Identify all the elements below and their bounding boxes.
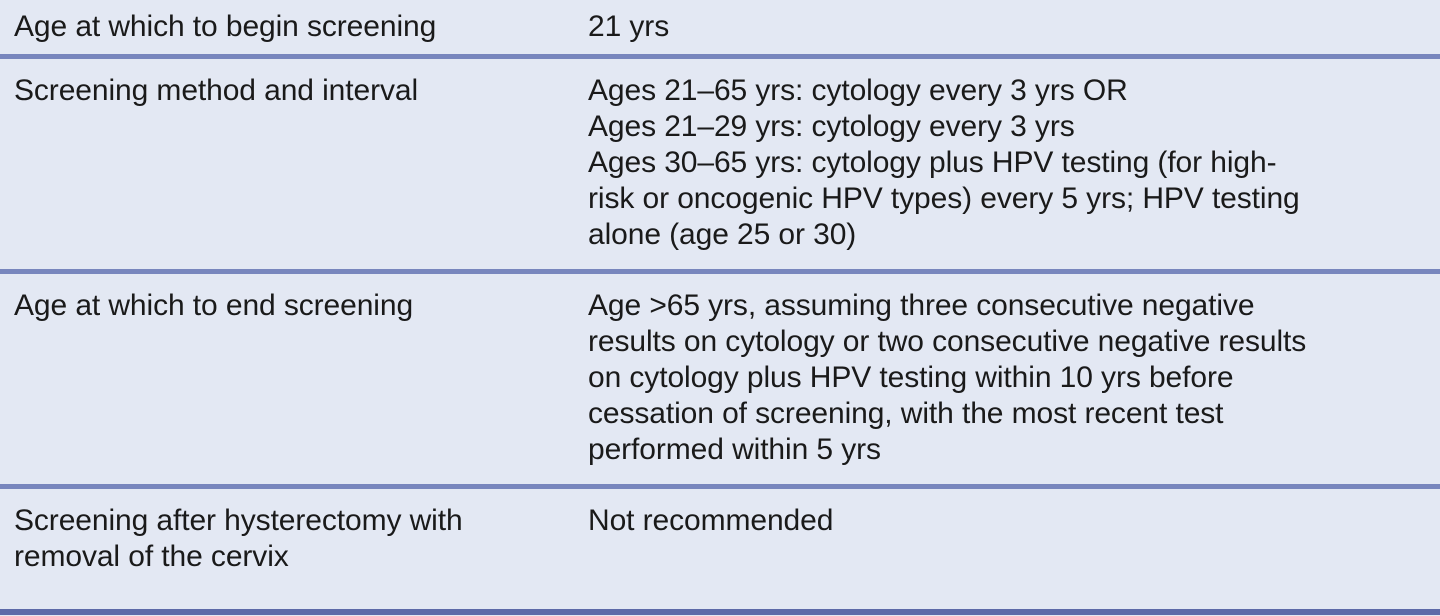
- row-value-line: alone (age 25 or 30): [588, 217, 1432, 253]
- guideline-table: Age at which to begin screening 21 yrs S…: [0, 0, 1440, 616]
- row-label-cell: Screening method and interval: [0, 59, 588, 125]
- row-value-line: Ages 21–65 yrs: cytology every 3 yrs OR: [588, 73, 1432, 109]
- table-bottom-rule: [0, 609, 1440, 615]
- row-value-line: on cytology plus HPV testing within 10 y…: [588, 360, 1432, 396]
- table-row: Screening method and interval Ages 21–65…: [0, 54, 1440, 269]
- table-row: Age at which to end screening Age >65 yr…: [0, 269, 1440, 484]
- row-value-line: risk or oncogenic HPV types) every 5 yrs…: [588, 181, 1432, 217]
- row-label-line: Age at which to begin screening: [14, 9, 574, 45]
- row-value-line: results on cytology or two consecutive n…: [588, 324, 1432, 360]
- row-value-line: Age >65 yrs, assuming three consecutive …: [588, 288, 1432, 324]
- row-value-line: Ages 21–29 yrs: cytology every 3 yrs: [588, 109, 1432, 145]
- row-value-cell: Age >65 yrs, assuming three consecutive …: [588, 274, 1440, 484]
- row-label-cell: Screening after hysterectomy with remova…: [0, 489, 588, 593]
- row-value-line: 21 yrs: [588, 9, 1432, 45]
- row-value-line: cessation of screening, with the most re…: [588, 396, 1432, 432]
- row-value-line: Ages 30–65 yrs: cytology plus HPV testin…: [588, 145, 1432, 181]
- row-value-cell: Not recommended: [588, 489, 1440, 557]
- row-label-cell: Age at which to begin screening: [0, 0, 588, 54]
- table-row: Screening after hysterectomy with remova…: [0, 484, 1440, 593]
- row-label-cell: Age at which to end screening: [0, 274, 588, 340]
- row-value-line: Not recommended: [588, 503, 1432, 539]
- row-label-line: Screening after hysterectomy with: [14, 503, 574, 539]
- row-value-cell: Ages 21–65 yrs: cytology every 3 yrs OR …: [588, 59, 1440, 269]
- row-label-line: Screening method and interval: [14, 73, 574, 109]
- row-label-line: Age at which to end screening: [14, 288, 574, 324]
- table-row: Age at which to begin screening 21 yrs: [0, 0, 1440, 54]
- row-label-line: removal of the cervix: [14, 539, 574, 575]
- row-value-line: performed within 5 yrs: [588, 432, 1432, 468]
- row-value-cell: 21 yrs: [588, 0, 1440, 54]
